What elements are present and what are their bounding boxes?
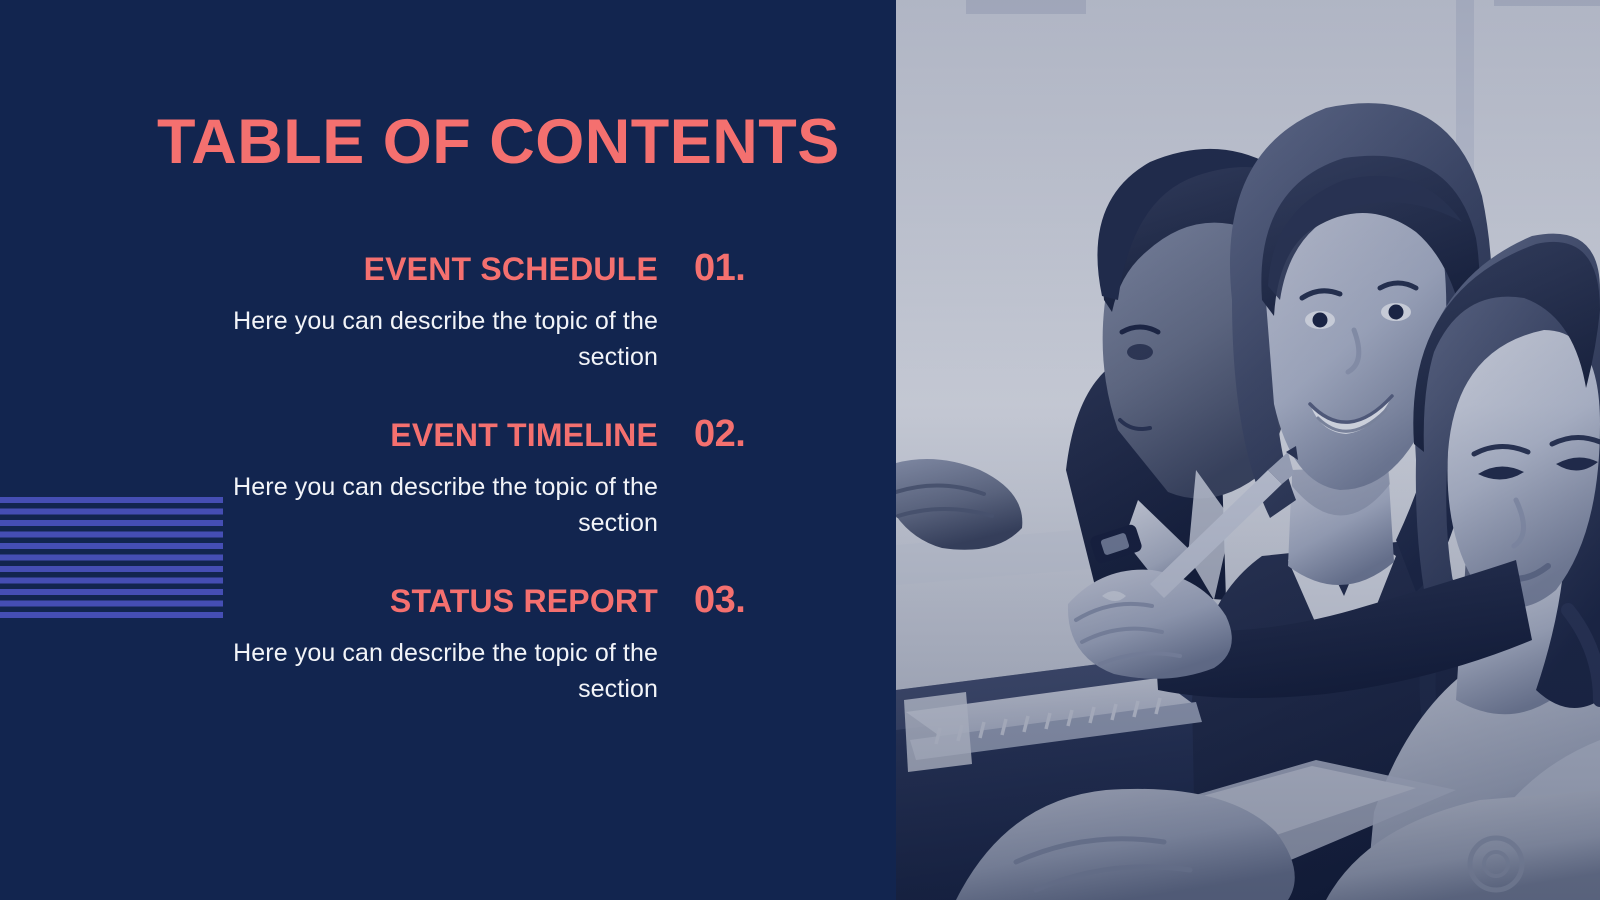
toc-item-2-description: Here you can describe the topic of the s…: [180, 469, 658, 542]
toc-item-2-heading: EVENT TIMELINE: [390, 416, 658, 454]
toc-item-2[interactable]: EVENT TIMELINE 02. Here you can describe…: [180, 413, 780, 541]
toc-item-1-number: 01.: [658, 247, 766, 291]
page-title: TABLE OF CONTENTS: [157, 108, 840, 177]
toc-item-3[interactable]: STATUS REPORT 03. Here you can describe …: [180, 579, 780, 707]
toc-list: EVENT SCHEDULE 01. Here you can describe…: [180, 247, 780, 708]
toc-item-3-description: Here you can describe the topic of the s…: [180, 635, 658, 708]
toc-item-3-number: 03.: [658, 579, 766, 623]
toc-item-1-description: Here you can describe the topic of the s…: [180, 303, 658, 376]
toc-item-2-number: 02.: [658, 413, 766, 457]
toc-item-3-header: STATUS REPORT 03.: [180, 579, 766, 623]
left-content-panel: TABLE OF CONTENTS EVENT SCHEDULE 01. Her…: [0, 0, 896, 900]
toc-slide: TABLE OF CONTENTS EVENT SCHEDULE 01. Her…: [0, 0, 1600, 900]
toc-item-3-heading: STATUS REPORT: [390, 582, 658, 620]
toc-item-1[interactable]: EVENT SCHEDULE 01. Here you can describe…: [180, 247, 780, 375]
meeting-photo: [896, 0, 1600, 900]
toc-item-1-heading: EVENT SCHEDULE: [364, 250, 658, 288]
toc-item-1-header: EVENT SCHEDULE 01.: [180, 247, 766, 291]
toc-item-2-header: EVENT TIMELINE 02.: [180, 413, 766, 457]
meeting-photo-illustration: [896, 0, 1600, 900]
